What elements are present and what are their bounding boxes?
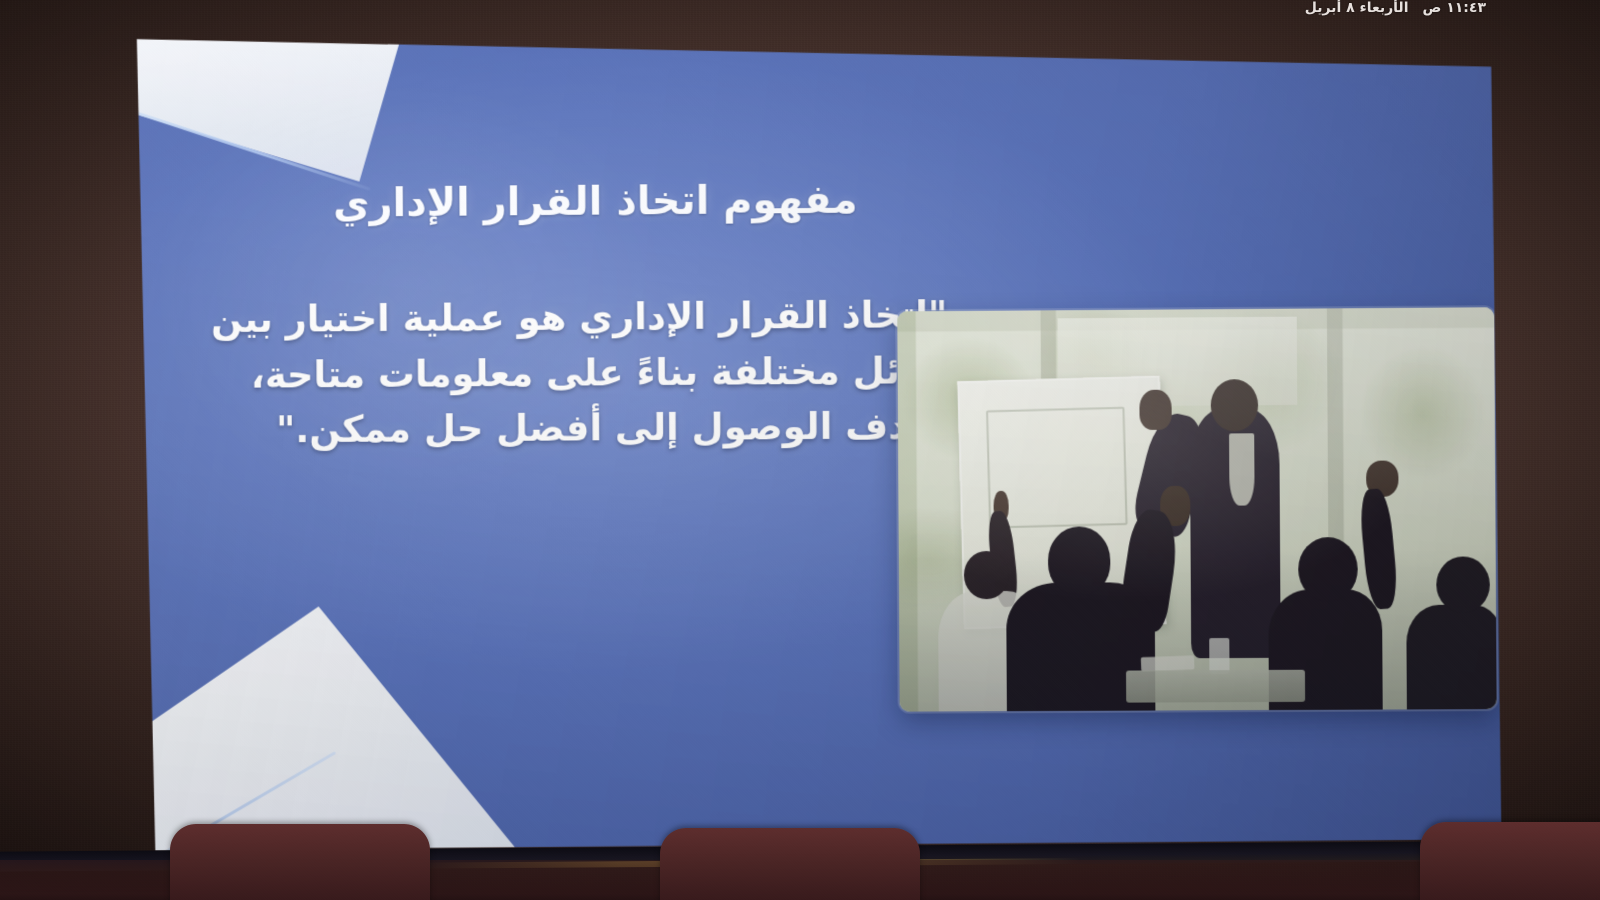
photo-attendee3-head (1298, 537, 1358, 602)
photo-attendee1-head (964, 551, 1009, 599)
quote-line-3: بهدف الوصول إلى أفضل حل ممكن." (250, 398, 948, 458)
photo-table (1126, 670, 1305, 703)
slide-quote-body: "اتخاذ القرار الإداري هو عملية اختيار بي… (249, 287, 948, 458)
photo-presenter-hand (1139, 390, 1172, 430)
slide-title: مفهوم اتخاذ القرار الإداري (316, 176, 875, 228)
chair-left (170, 824, 430, 900)
decorative-shape-bottom-left (129, 605, 521, 850)
photo-papers (1140, 655, 1194, 671)
photo-glass (1209, 638, 1230, 674)
decorative-shape-top-left (129, 32, 404, 184)
chair-right (1420, 822, 1600, 900)
status-bar-time: ١١:٤٣ ص (1423, 0, 1487, 16)
slide-canvas: مفهوم اتخاذ القرار الإداري "اتخاذ القرار… (129, 24, 1502, 850)
presentation-screen: مفهوم اتخاذ القرار الإداري "اتخاذ القرار… (129, 24, 1502, 850)
photo-attendee4-body (1406, 605, 1496, 712)
quote-line-1: "اتخاذ القرار الإداري هو عملية اختيار بي… (249, 287, 947, 347)
slide-photo-meeting (897, 307, 1496, 711)
photo-attendee4-head (1436, 556, 1490, 613)
photo-presenter-shirt (1229, 433, 1255, 505)
quote-line-2: بدائل مختلفة بناءً على معلومات متاحة، (250, 343, 948, 403)
status-bar-date: الأربعاء ٨ أبريل (1305, 0, 1409, 16)
photo-attendee2-head (1047, 526, 1110, 594)
device-status-bar: ١١:٤٣ ص الأربعاء ٨ أبريل (1305, 0, 1488, 22)
projected-slide-photo: ١١:٤٣ ص الأربعاء ٨ أبريل مفهوم اتخاذ الق… (0, 0, 1600, 900)
chair-center (660, 828, 920, 900)
